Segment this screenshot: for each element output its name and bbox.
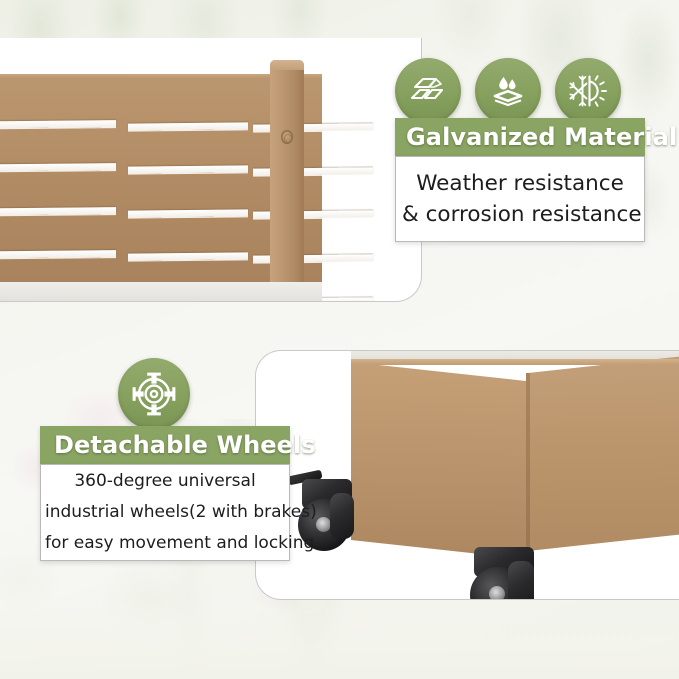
cabinet-base-front (351, 362, 529, 559)
caster-wheel-right (468, 541, 554, 600)
cabinet-ground-shadow (0, 282, 322, 302)
cabinet-base-top-lip (351, 359, 679, 365)
swivel-target-icon (118, 358, 190, 430)
caster-fork-arm (330, 493, 354, 539)
galvanized-body-line-1: Weather resistance (402, 168, 638, 199)
galvanized-title: Galvanized Material (406, 123, 677, 151)
louver-slot (128, 122, 248, 130)
cabinet-base-side (528, 353, 679, 551)
caster-fork-arm (508, 561, 534, 600)
callout-galvanized-material: Galvanized Material Weather resistance &… (395, 58, 645, 242)
infographic-canvas: Galvanized Material Weather resistance &… (0, 0, 679, 679)
snowflake-sun-icon (555, 58, 621, 124)
wheels-body-line-2: industrial wheels(2 with brakes) (45, 497, 285, 528)
galvanized-icon-row (395, 58, 645, 124)
metal-ingots-icon (395, 58, 461, 124)
louver-slot (128, 166, 248, 174)
wheels-title: Detachable Wheels (54, 431, 316, 459)
galvanized-title-ribbon: Galvanized Material (395, 118, 645, 156)
water-droplets-layers-icon (475, 58, 541, 124)
cabinet-base-corner-edge (526, 373, 530, 555)
louver-slot (128, 209, 248, 217)
wheels-body-box: 360-degree universal industrial wheels(2… (40, 464, 290, 561)
background-bottom-fade (0, 599, 679, 679)
galvanized-body-line-2: & corrosion resistance (402, 199, 638, 230)
galvanized-body-box: Weather resistance & corrosion resistanc… (395, 156, 645, 242)
wheels-body-line-3: for easy movement and locking (45, 528, 285, 559)
caster-wheel-hub (316, 517, 331, 532)
wheels-title-ribbon: Detachable Wheels (40, 426, 290, 464)
cabinet-right-post (270, 60, 304, 296)
wheels-body-line-1: 360-degree universal (45, 466, 285, 497)
caster-wheel-hub (489, 586, 505, 600)
wheels-icon-row (118, 358, 368, 430)
louver-slot (0, 120, 116, 129)
louvered-cabinet-photo (0, 38, 422, 302)
cabinet-lock-screw (281, 130, 293, 144)
louver-slot (0, 207, 116, 216)
callout-detachable-wheels: Detachable Wheels 360-degree universal i… (40, 358, 290, 561)
louver-slot (128, 253, 248, 261)
cabinet-post-cap (270, 60, 304, 70)
